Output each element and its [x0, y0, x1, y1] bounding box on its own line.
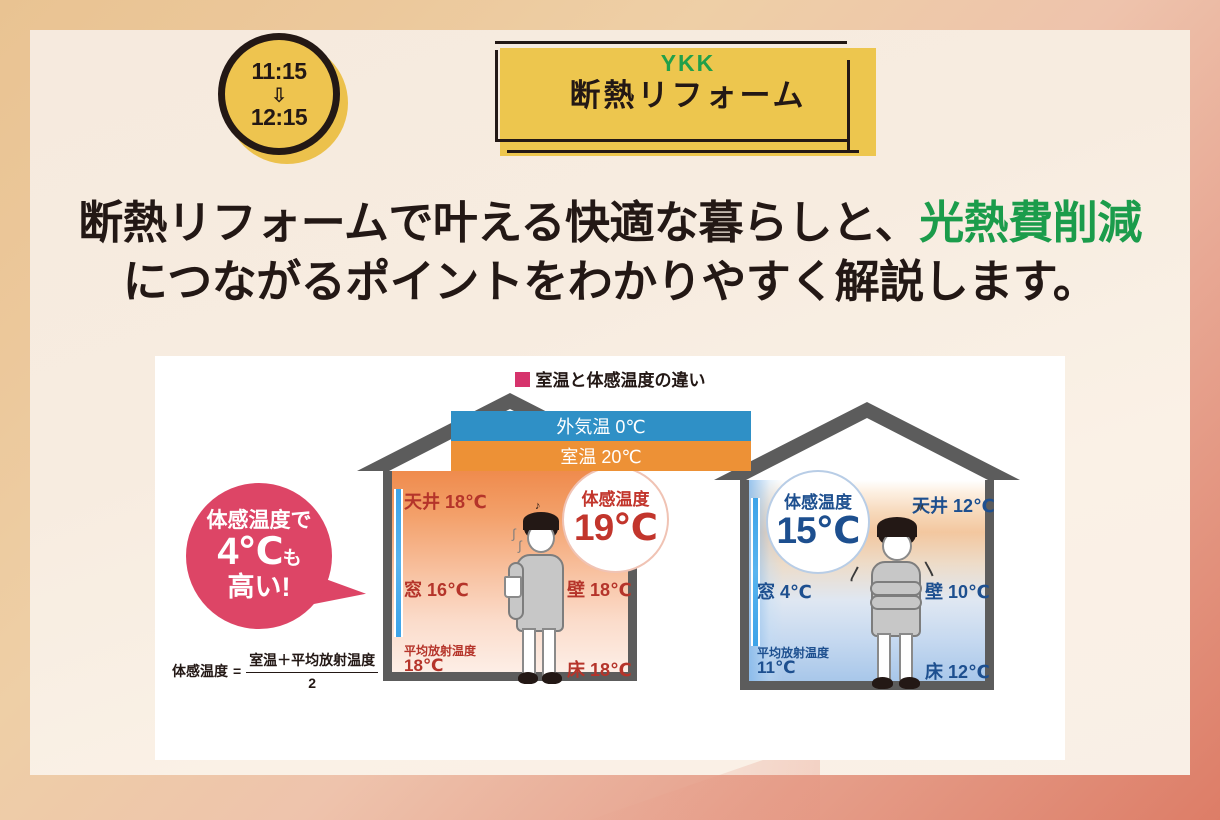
callout-left-value: 19℃: [574, 509, 657, 548]
headline-highlight: 光熱費削減: [919, 197, 1142, 248]
music-note-icon: ♪: [535, 500, 541, 512]
headline-line-2: につながるポイントをわかりやすく解説します。: [0, 252, 1220, 311]
label-wall-left: 壁 18℃: [567, 576, 632, 602]
formula-numerator: 室温＋平均放射温度: [246, 650, 378, 673]
label-floor-left: 床 18℃: [567, 656, 632, 682]
arm-crossed-1-icon: [870, 581, 922, 596]
felt-temperature-formula: 体感温度 = 室温＋平均放射温度 2: [172, 650, 378, 691]
shiver-mark-icon: 〃: [914, 499, 926, 516]
label-floor-right: 床 12℃: [925, 658, 990, 684]
foot-left-icon: [518, 672, 538, 684]
leg-right-icon: [899, 633, 913, 683]
down-arrow-icon: ⇩: [271, 85, 288, 105]
foot-right-icon: [899, 677, 920, 689]
badge-rule-top: [495, 41, 847, 44]
badge-rule-left: [495, 50, 498, 142]
arm-crossed-2-icon: [870, 595, 922, 610]
badge-rule-bottom: [507, 150, 859, 153]
callout-felt-temp-right: 体感温度 15℃: [766, 470, 870, 574]
outside-temperature-bar: 外気温 0℃: [451, 411, 751, 441]
leg-left-icon: [522, 628, 536, 678]
time-start: 11:15: [251, 60, 306, 83]
badge-title: 断熱リフォーム: [500, 76, 876, 116]
bubble-line-3: 高い!: [228, 573, 291, 602]
cup-icon: [504, 576, 522, 598]
callout-right-caption: 体感温度: [784, 494, 852, 512]
badge-rule-bottom-inner: [497, 139, 849, 142]
hair-top-icon: [877, 517, 917, 537]
label-mrt-left-value: 18℃: [404, 656, 444, 676]
foot-left-icon: [872, 677, 893, 689]
callout-right-value: 15℃: [777, 512, 860, 551]
shiver-line-left-icon: 〳: [848, 563, 863, 584]
bubble-suffix: も: [283, 548, 301, 569]
label-window-right: 窓 4℃: [757, 578, 812, 604]
square-bullet-icon: [515, 372, 530, 387]
label-ceiling-left: 天井 18℃: [404, 488, 487, 514]
foot-right-icon: [542, 672, 562, 684]
clock-content: 11:15 ⇩ 12:15: [218, 33, 340, 155]
headline-line-1: 断熱リフォームで叶える快適な暮らしと、光熱費削減: [0, 193, 1220, 252]
bubble-value: 4: [217, 531, 237, 573]
time-end: 12:15: [251, 106, 307, 129]
steam-icon: ∫: [512, 526, 516, 541]
window-left-icon: [394, 489, 403, 637]
leg-left-icon: [877, 633, 891, 683]
label-mrt-right-value: 11℃: [757, 658, 796, 678]
bubble-value-row: 4℃も: [217, 532, 300, 573]
title-badge: YKK 断熱リフォーム: [487, 38, 887, 160]
headline-line1-text: 断熱リフォームで叶える快適な暮らしと、: [78, 197, 919, 248]
diagram-title-text: 室温と体感温度の違い: [536, 371, 706, 390]
formula-fraction: 室温＋平均放射温度 2: [246, 650, 378, 691]
formula-lhs: 体感温度: [172, 661, 228, 681]
label-window-left: 窓 16℃: [404, 576, 469, 602]
room-temperature-bar: 室温 20℃: [451, 441, 751, 471]
formula-denominator: 2: [246, 673, 378, 691]
steam-icon-2: ∫: [518, 538, 522, 553]
hair-top-icon: [523, 512, 559, 530]
poster-canvas: 11:15 ⇩ 12:15 YKK 断熱リフォーム 断熱リフォームで叶える快適な…: [0, 0, 1220, 820]
window-right-icon: [751, 498, 760, 646]
title-badge-text: YKK 断熱リフォーム: [500, 50, 876, 117]
shiver-line-right-icon: 〵: [922, 559, 937, 580]
time-badge: 11:15 ⇩ 12:15: [218, 33, 348, 163]
diagram-title: 室温と体感温度の違い: [155, 366, 1065, 391]
roof-right-icon: [712, 400, 1022, 484]
page-headline: 断熱リフォームで叶える快適な暮らしと、光熱費削減 につながるポイントをわかりやす…: [0, 193, 1220, 312]
callout-felt-temp-left: 体感温度 19℃: [562, 466, 669, 573]
leg-right-icon: [542, 628, 556, 678]
person-cold-illustration: 〳 〵 〃: [858, 505, 934, 690]
bubble-line-1: 体感温度で: [207, 510, 312, 533]
speech-bubble-difference: 体感温度で 4℃も 高い!: [186, 483, 332, 629]
bubble-unit: ℃: [238, 531, 283, 573]
label-wall-right: 壁 10℃: [925, 578, 990, 604]
formula-equals: =: [233, 663, 241, 679]
brand-name: YKK: [500, 50, 876, 76]
